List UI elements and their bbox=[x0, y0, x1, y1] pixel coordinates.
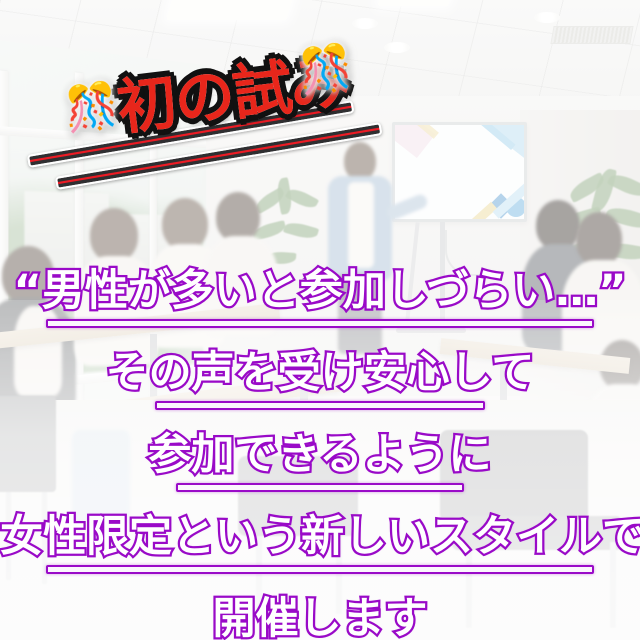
copy-line-text: 開催します bbox=[213, 584, 428, 640]
main-copy-block: “男性が多いと参加しづらい…” その声を受け安心して 参加できるように 女性限定… bbox=[0, 256, 640, 640]
copy-line: 参加できるように bbox=[0, 420, 640, 492]
poster-canvas: 初の試み 🎊 🎊 “男性が多いと参加しづらい…” その声を受け安心して 参加でき… bbox=[0, 0, 640, 640]
copy-underline bbox=[46, 319, 594, 328]
copy-line-text: “男性が多いと参加しづらい…” bbox=[14, 256, 627, 318]
confetti-ball-icon: 🎊 bbox=[61, 82, 121, 133]
copy-line-text: その声を受け安心して bbox=[106, 338, 535, 400]
copy-line: “男性が多いと参加しづらい…” bbox=[0, 256, 640, 328]
copy-line: 開催します bbox=[0, 584, 640, 640]
title-badge: 初の試み 🎊 🎊 bbox=[30, 42, 350, 138]
copy-underline bbox=[155, 401, 485, 410]
copy-line: その声を受け安心して bbox=[0, 338, 640, 410]
copy-underline bbox=[176, 483, 464, 492]
copy-line: 女性限定という新しいスタイルで bbox=[0, 502, 640, 574]
copy-line-text: 参加できるように bbox=[148, 420, 491, 482]
confetti-ball-icon: 🎊 bbox=[295, 44, 355, 95]
copy-underline bbox=[46, 565, 594, 574]
copy-line-text: 女性限定という新しいスタイルで bbox=[0, 502, 640, 564]
